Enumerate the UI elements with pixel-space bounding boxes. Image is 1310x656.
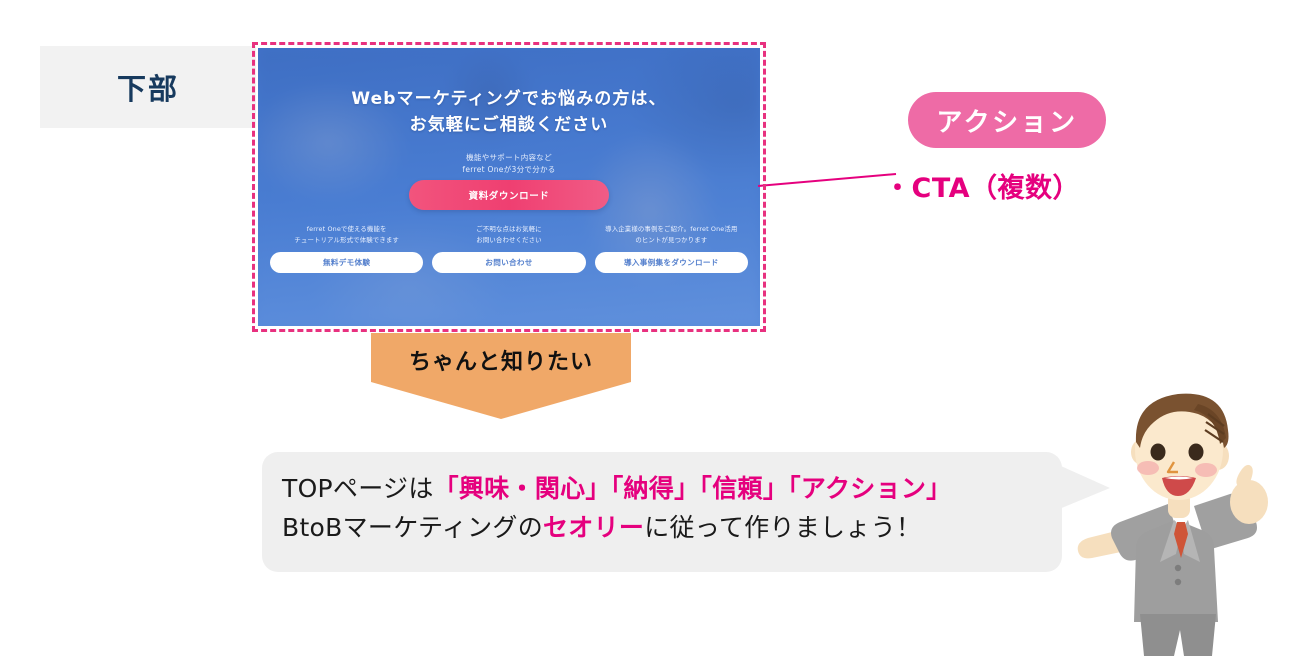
banner-content: Webマーケティングでお悩みの方は、 お気軽にご相談ください 機能やサポート内容…: [258, 48, 760, 326]
banner-column-description: 導入企業様の事例をご紹介。ferret One活用 のヒントが見つかります: [605, 224, 737, 247]
banner-column-description: ferret Oneで使える機能を チュートリアル形式で体験できます: [294, 224, 399, 247]
banner-subtext-line2: ferret Oneが3分で分かる: [258, 164, 760, 176]
bubble-line2-plain-b: に従って作りましょう！: [644, 513, 921, 542]
banner-headline: Webマーケティングでお悩みの方は、 お気軽にご相談ください: [258, 86, 760, 139]
businessman-character-illustration: [1048, 386, 1310, 656]
bubble-line1-highlight: 「興味・関心」「納得」「信頼」「アクション」: [434, 474, 952, 503]
banner-subtext: 機能やサポート内容など ferret Oneが3分で分かる: [258, 152, 760, 176]
bubble-line-2: BtoBマーケティングのセオリーに従って作りましょう！: [282, 509, 951, 548]
secondary-cta-button-demo[interactable]: 無料デモ体験: [270, 252, 423, 273]
banner-column: 導入企業様の事例をご紹介。ferret One活用 のヒントが見つかります 導入…: [595, 224, 748, 273]
secondary-cta-button-casestudy[interactable]: 導入事例集をダウンロード: [595, 252, 748, 273]
bubble-line2-plain-a: BtoBマーケティングの: [282, 513, 543, 542]
banner-headline-line2: お気軽にご相談ください: [258, 112, 760, 138]
desc-line: チュートリアル形式で体験できます: [294, 235, 399, 246]
secondary-cta-label: 無料デモ体験: [323, 257, 370, 268]
primary-cta-label: 資料ダウンロード: [469, 188, 550, 202]
desc-line: お問い合わせください: [476, 235, 541, 246]
banner-column: ferret Oneで使える機能を チュートリアル形式で体験できます 無料デモ体…: [270, 224, 423, 273]
cta-annotation-text: ・CTA（複数）: [884, 166, 1080, 205]
bubble-line2-highlight: セオリー: [543, 513, 644, 542]
action-stage-badge: アクション: [908, 92, 1106, 148]
section-label-text: 下部: [117, 66, 179, 108]
bubble-line1-plain: TOPページは: [282, 474, 434, 503]
desc-line: のヒントが見つかります: [605, 235, 737, 246]
banner-subtext-line1: 機能やサポート内容など: [258, 152, 760, 164]
desc-line: ご不明な点はお気軽に: [476, 224, 541, 235]
desc-line: 導入企業様の事例をご紹介。ferret One活用: [605, 224, 737, 235]
banner-headline-line1: Webマーケティングでお悩みの方は、: [258, 86, 760, 112]
arrow-label: ちゃんと知りたい: [366, 344, 636, 376]
bubble-line-1: TOPページは「興味・関心」「納得」「信頼」「アクション」: [282, 470, 951, 509]
action-stage-badge-label: アクション: [936, 102, 1077, 139]
desc-line: ferret Oneで使える機能を: [294, 224, 399, 235]
banner-cta-columns: ferret Oneで使える機能を チュートリアル形式で体験できます 無料デモ体…: [270, 224, 748, 273]
website-footer-banner-screenshot: Webマーケティングでお悩みの方は、 お気軽にご相談ください 機能やサポート内容…: [258, 48, 760, 326]
cta-connector-line: [758, 160, 898, 200]
banner-column: ご不明な点はお気軽に お問い合わせください お問い合わせ: [432, 224, 585, 273]
speech-bubble-text: TOPページは「興味・関心」「納得」「信頼」「アクション」 BtoBマーケティン…: [282, 470, 951, 548]
secondary-cta-button-contact[interactable]: お問い合わせ: [432, 252, 585, 273]
section-label-box: 下部: [40, 46, 256, 128]
banner-column-description: ご不明な点はお気軽に お問い合わせください: [476, 224, 541, 247]
speech-bubble-tail: [1052, 462, 1112, 514]
slide-canvas: 下部 Webマーケティングでお悩みの方は、 お気軽にご相談ください 機能やサポー…: [0, 0, 1310, 656]
secondary-cta-label: お問い合わせ: [485, 257, 532, 268]
secondary-cta-label: 導入事例集をダウンロード: [624, 257, 719, 268]
primary-cta-button[interactable]: 資料ダウンロード: [409, 180, 609, 210]
